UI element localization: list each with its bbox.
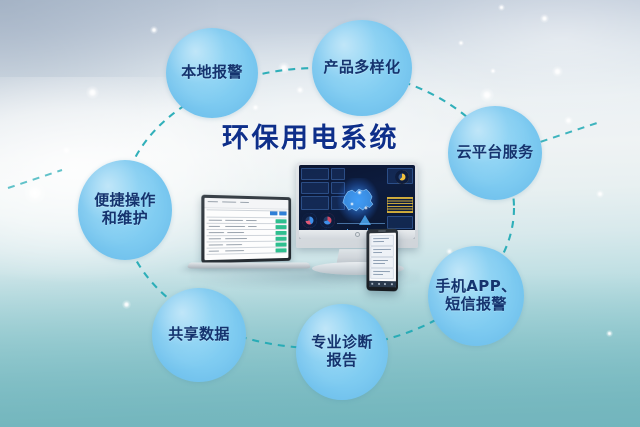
table-cell-text — [225, 220, 243, 221]
node-product-variety[interactable]: 产品多样化 — [312, 20, 412, 116]
phone-speaker-icon — [378, 230, 386, 232]
table-cell-text — [248, 226, 257, 227]
table-status-cell — [276, 248, 287, 252]
phone-list-item — [370, 235, 394, 246]
table-cell-text — [209, 220, 222, 221]
dashboard-donut-chart — [395, 170, 409, 184]
node-label: 本地报警 — [181, 64, 243, 82]
table-row — [207, 235, 287, 236]
node-cloud-platform[interactable]: 云平台服务 — [448, 106, 542, 200]
node-mobile-app-sms[interactable]: 手机APP、 短信报警 — [428, 246, 524, 346]
dashboard-panel — [301, 196, 329, 210]
node-label: 产品多样化 — [323, 59, 400, 77]
table-cell-text — [225, 250, 244, 252]
table-header-bar — [204, 198, 288, 210]
node-label: 便捷操作 和维护 — [94, 192, 156, 227]
table-row — [207, 252, 287, 255]
table-row — [207, 229, 287, 230]
node-label: 专业诊断 报告 — [311, 334, 373, 369]
nav-dot-icon[interactable] — [384, 283, 386, 285]
dashboard-panel — [387, 216, 413, 229]
monitor-brand-logo-icon — [355, 232, 360, 237]
table-cell-text — [225, 238, 247, 239]
table-status-cell — [276, 237, 287, 241]
phone-list-item — [370, 268, 394, 279]
table-status-cell — [276, 225, 287, 229]
node-label: 手机APP、 短信报警 — [436, 278, 517, 313]
table-row — [207, 223, 287, 224]
node-diagnosis-report[interactable]: 专业诊断 报告 — [296, 304, 388, 400]
laptop-screen-data-table — [204, 198, 288, 260]
table-cell-text — [209, 244, 223, 245]
nav-dot-icon[interactable] — [391, 283, 393, 285]
table-cell-text — [209, 232, 224, 233]
table-status-cell — [276, 243, 287, 247]
page-title: 环保用电系统 — [222, 116, 437, 155]
node-label: 共享数据 — [168, 326, 230, 344]
phone-screen-app-list — [369, 233, 396, 288]
laptop-lid — [201, 195, 291, 264]
nav-dot-icon[interactable] — [378, 283, 380, 285]
laptop-keyboard-deck — [186, 263, 312, 269]
phone-bottom-nav[interactable] — [369, 281, 396, 288]
nav-dot-icon[interactable] — [371, 283, 373, 285]
dashboard-axis-line — [337, 223, 385, 224]
node-easy-operation[interactable]: 便捷操作 和维护 — [78, 160, 172, 260]
table-row — [207, 209, 287, 211]
table-cell-text — [209, 251, 219, 252]
table-cell-text — [246, 220, 257, 221]
dashboard-donut-chart — [302, 213, 317, 228]
table-cell-text — [227, 232, 244, 233]
infographic-canvas: 环保用电系统 本地报警 产品多样化 云平台服务 手机APP、 短信报警 专业诊断… — [0, 0, 640, 427]
table-cell-text — [209, 226, 220, 227]
table-cell-text — [226, 244, 242, 245]
laptop-device — [202, 196, 294, 262]
table-status-cell — [276, 219, 287, 223]
china-map-shape — [337, 178, 379, 224]
node-label: 云平台服务 — [456, 144, 533, 162]
node-shared-data[interactable]: 共享数据 — [152, 288, 246, 382]
phone-list-item — [370, 246, 394, 257]
table-cell-text — [209, 238, 221, 239]
dashboard-panel — [301, 168, 329, 180]
dashboard-log-panel — [387, 197, 413, 213]
table-status-cell — [276, 231, 287, 235]
monitor-screen-dashboard — [299, 165, 415, 239]
table-row — [207, 217, 287, 219]
smartphone-device — [366, 229, 398, 292]
node-local-alarm[interactable]: 本地报警 — [166, 28, 258, 118]
table-cell-text — [225, 226, 245, 227]
dashboard-china-map — [337, 178, 379, 224]
table-row — [207, 241, 287, 243]
phone-list-item — [370, 257, 394, 268]
dashboard-panel — [301, 182, 329, 194]
desktop-monitor-device — [296, 162, 418, 248]
dashboard-donut-chart — [320, 213, 335, 228]
